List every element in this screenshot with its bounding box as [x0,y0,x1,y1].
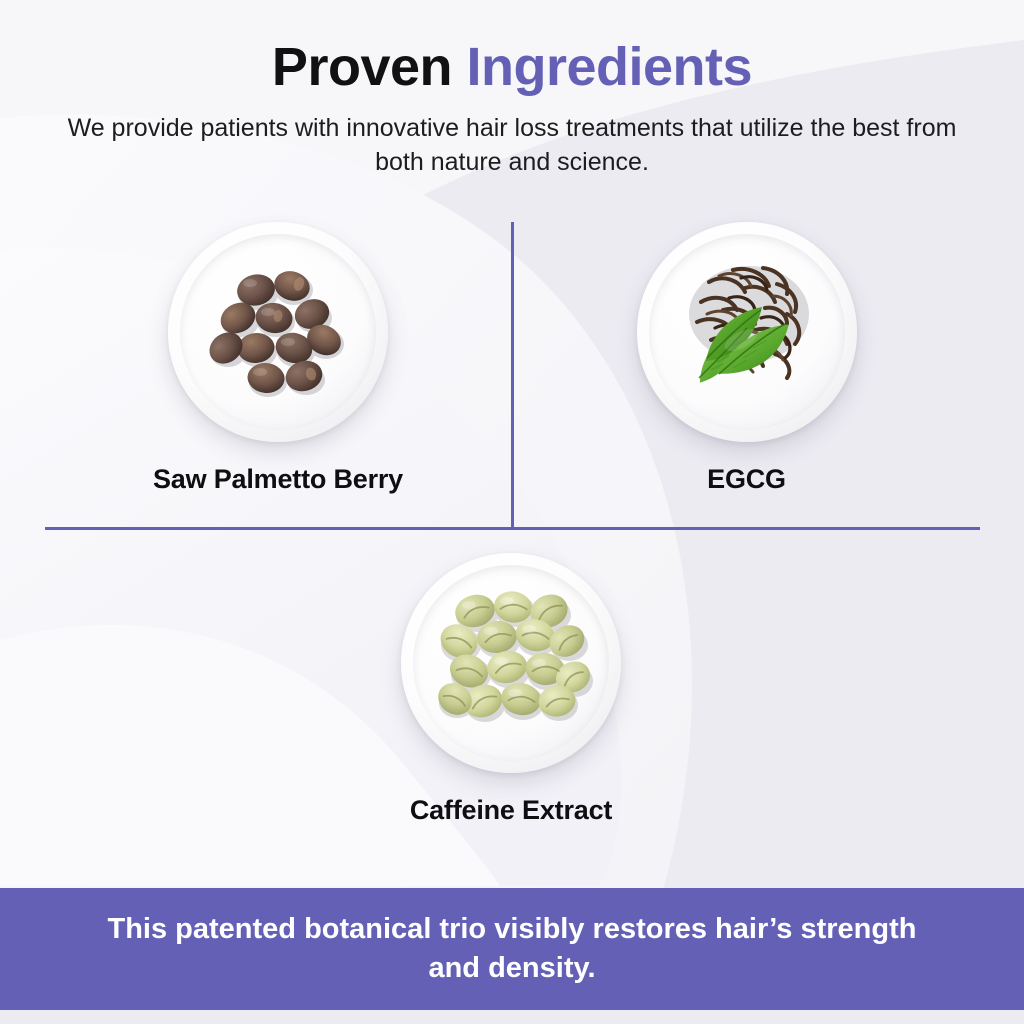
ingredient-label: EGCG [513,464,980,495]
horizontal-divider [45,527,980,530]
petri-dish-green-tea-leaves-icon [637,222,857,442]
page-title-accent: Ingredients [467,37,753,97]
ingredient-card-saw-palmetto-berry: Saw Palmetto Berry [45,222,511,495]
ingredient-label: Saw Palmetto Berry [45,464,511,495]
page-title: Proven Ingredients [0,0,1024,96]
ingredient-card-caffeine-extract: Caffeine Extract [278,553,744,826]
petri-dish-green-coffee-beans-icon [401,553,621,773]
ingredient-card-egcg: EGCG [513,222,980,495]
vertical-divider [511,222,514,528]
petri-dish-saw-palmetto-berries-icon [168,222,388,442]
banner-text: This patented botanical trio visibly res… [92,910,932,989]
page-subtitle: We provide patients with innovative hair… [67,112,957,179]
ingredient-label: Caffeine Extract [278,795,744,826]
ingredients-infographic: Proven Ingredients We provide patients w… [0,0,1024,1024]
page-title-primary: Proven [272,37,452,97]
bottom-claim-banner: This patented botanical trio visibly res… [0,888,1024,1010]
header: Proven Ingredients We provide patients w… [0,0,1024,179]
